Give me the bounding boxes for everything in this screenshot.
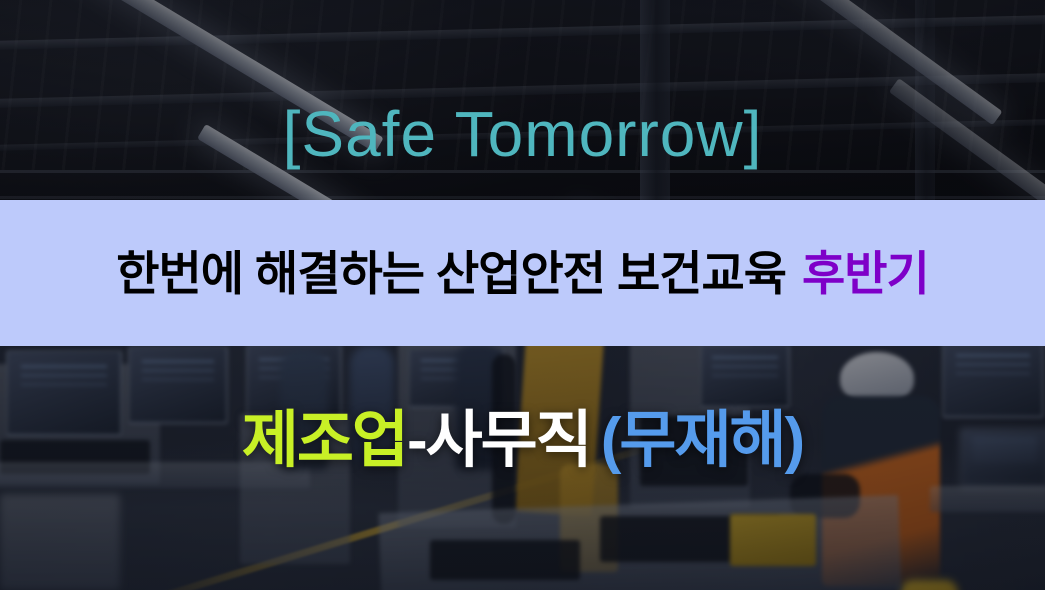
ceiling-pipe [0,196,1045,199]
band-accent-text: 후반기 [802,247,929,300]
english-headline: [Safe Tomorrow] [0,102,1045,166]
band-main-text: 한번에 해결하는 산업안전 보건교육 [116,247,786,300]
band-text-group: 한번에 해결하는 산업안전 보건교육후반기 [116,250,929,297]
equipment-cabinet [0,494,120,590]
course-subtitle: 제조업-사무직(무재해) [0,410,1045,472]
safety-training-promo-banner: [Safe Tomorrow] 한번에 해결하는 산업안전 보건교육후반기 제조… [0,0,1045,590]
workstation-monitor [700,344,790,408]
yellow-tool [900,580,958,590]
blue-title-band: 한번에 해결하는 산업안전 보건교육후반기 [0,200,1045,346]
subtitle-industry: 제조업 [242,406,407,475]
yellow-safety-block [730,514,816,566]
ceiling-pipe [0,170,1045,173]
workbench-surface [930,486,1045,512]
workstation-monitor [942,344,1044,418]
subtitle-accident-free: (무재해) [601,406,803,475]
press-die-slot [430,540,580,580]
subtitle-jobtype: -사무직 [407,406,591,475]
